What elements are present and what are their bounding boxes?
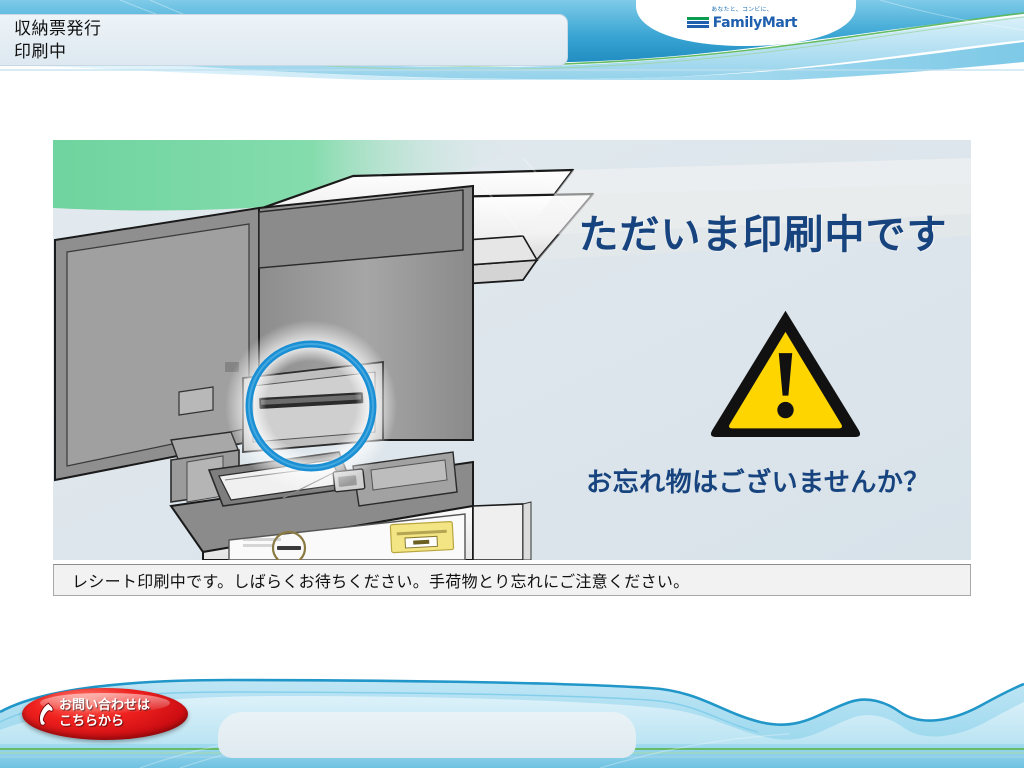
status-message-bar: レシート印刷中です。しばらくお待ちください。手荷物とり忘れにご注意ください。 — [53, 564, 971, 596]
forgotten-items-question: お忘れ物はございませんか？ — [548, 462, 968, 499]
footer: お問い合わせは こちらから — [0, 650, 1024, 768]
main-illustration-panel: ただいま印刷中です お忘れ物はございませんか？ — [53, 140, 971, 560]
screen-title-line-2: 印刷中 — [14, 41, 567, 64]
printing-headline: ただいま印刷中です — [558, 202, 968, 260]
familymart-logo: あなたと、コンビに、 FamilyMart — [681, 6, 803, 38]
phone-handset-icon — [36, 701, 54, 727]
contact-button-line-2: こちらから — [59, 714, 150, 730]
brand-tagline: あなたと、コンビに、 — [681, 6, 803, 14]
contact-button-line-1: お問い合わせは — [59, 698, 150, 714]
warning-triangle-icon — [708, 303, 863, 438]
contact-us-button[interactable]: お問い合わせは こちらから — [22, 688, 188, 740]
header: 収納票発行 印刷中 あなたと、コンビに、 FamilyMart — [0, 0, 1024, 80]
screen-title-line-1: 収納票発行 — [14, 18, 567, 41]
screen-title-box: 収納票発行 印刷中 — [0, 14, 568, 66]
familymart-mark-icon — [687, 17, 709, 30]
footer-inset-plate — [218, 712, 636, 758]
brand-name: FamilyMart — [713, 15, 797, 31]
kiosk-screen: 収納票発行 印刷中 あなたと、コンビに、 FamilyMart — [0, 0, 1024, 768]
status-message-text: レシート印刷中です。しばらくお待ちください。手荷物とり忘れにご注意ください。 — [72, 568, 689, 592]
